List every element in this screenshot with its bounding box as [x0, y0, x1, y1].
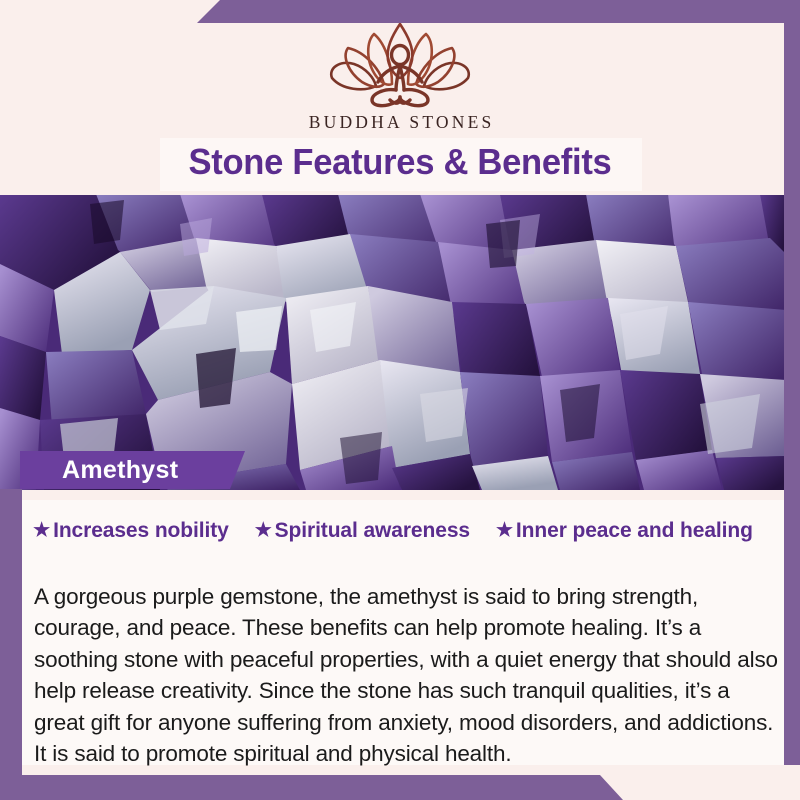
brand-name: BUDDHA STONES [0, 112, 800, 133]
amethyst-crystal-photo [0, 194, 786, 490]
brand-logo: BUDDHA STONES [0, 22, 800, 133]
frame-border-left [0, 489, 22, 800]
lotus-meditation-icon [326, 22, 474, 110]
benefit-label-0: Increases nobility [53, 519, 229, 543]
stone-name-label: Amethyst [62, 456, 178, 485]
stone-benefits-poster: Amethyst [0, 0, 800, 800]
benefit-label-1: Spiritual awareness [275, 519, 470, 543]
star-icon: ★ [255, 521, 272, 540]
star-icon: ★ [496, 521, 513, 540]
star-icon: ★ [33, 521, 50, 540]
benefit-item-0: ★ Increases nobility [33, 519, 229, 543]
frame-border-right [784, 0, 800, 800]
benefit-label-2: Inner peace and healing [516, 519, 753, 543]
benefits-list: ★ Increases nobility ★ Spiritual awarene… [0, 519, 786, 543]
benefit-item-1: ★ Spiritual awareness [255, 519, 470, 543]
page-title: Stone Features & Benefits [16, 141, 784, 183]
stone-description: A gorgeous purple gemstone, the amethyst… [34, 581, 782, 770]
benefit-item-2: ★ Inner peace and healing [496, 519, 753, 543]
